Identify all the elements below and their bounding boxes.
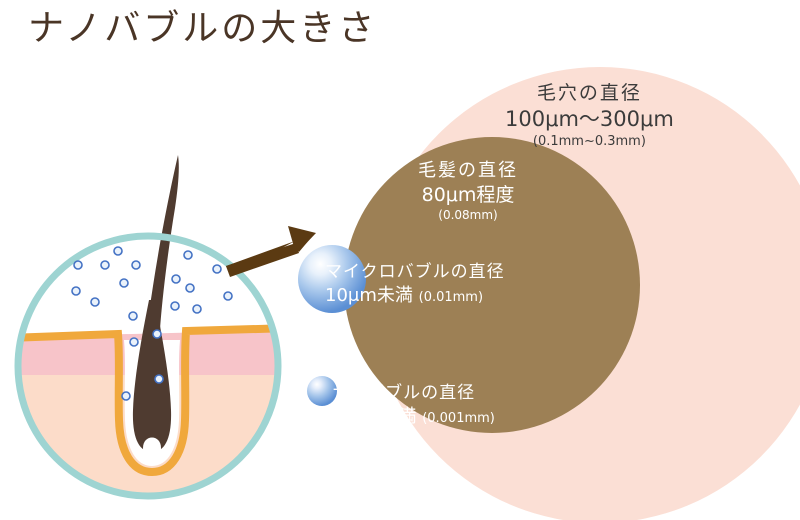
label-pore-diameter: 毛穴の直径 100μm〜300μm (0.1mm~0.3mm) [505,82,674,150]
label-nanobubble-name: ナノバブルの直径 [332,383,495,403]
label-nanobubble-diameter: ナノバブルの直径 1μm未満 (0.001mm) [332,383,495,427]
scale-comparison-graphic [0,0,800,520]
label-microbubble-name: マイクロバブルの直径 [325,262,505,282]
label-microbubble-value-line: 10μm未満 (0.01mm) [325,285,505,306]
skin-cross-section-diagram [8,155,292,510]
label-hair-sub: (0.08mm) [418,208,518,222]
label-pore-name: 毛穴の直径 [505,82,674,104]
label-microbubble-diameter: マイクロバブルの直径 10μm未満 (0.01mm) [325,262,505,306]
label-nanobubble-value-line: 1μm未満 (0.001mm) [340,406,495,427]
label-hair-diameter: 毛髪の直径 80μm程度 (0.08mm) [418,160,518,222]
label-hair-name: 毛髪の直径 [418,160,518,181]
label-pore-value: 100μm〜300μm [505,107,674,132]
label-microbubble-sub: (0.01mm) [419,290,483,305]
illustration-canvas: ナノバブルの大きさ [0,0,800,520]
label-pore-sub: (0.1mm~0.3mm) [505,134,674,149]
label-nanobubble-sub: (0.001mm) [422,411,495,426]
label-microbubble-value: 10μm未満 [325,285,413,306]
label-nanobubble-value: 1μm未満 [340,406,416,427]
label-hair-value: 80μm程度 [418,184,518,206]
